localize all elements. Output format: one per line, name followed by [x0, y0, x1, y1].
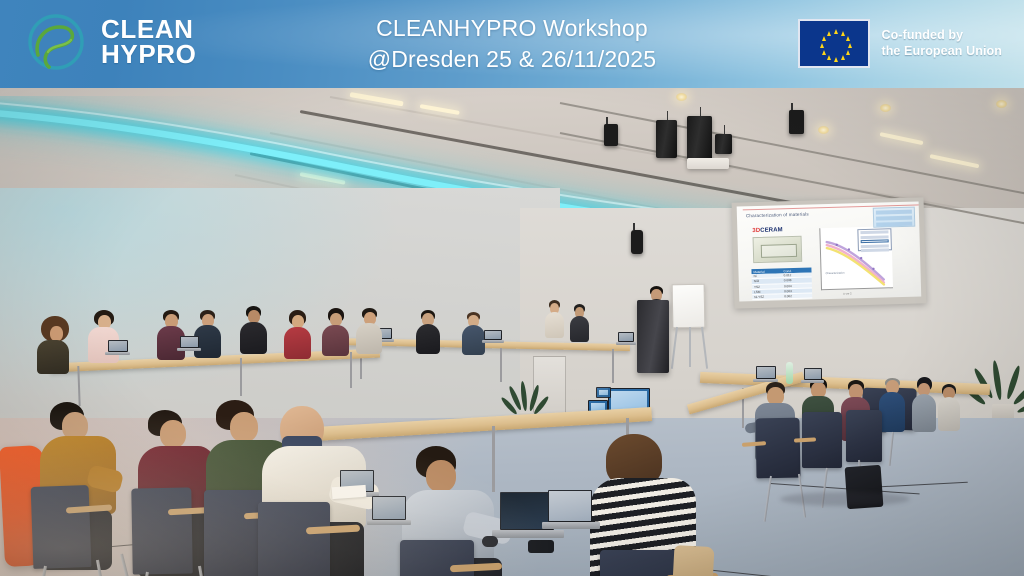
chair [131, 487, 192, 574]
slide-data-table: Material Cond. Ni0.012NiO0.008YSZ0.004LS… [751, 267, 811, 274]
smartphone [528, 540, 554, 553]
wall-light-glow [0, 188, 430, 418]
cell-material: YSZ [752, 284, 782, 289]
eu-star [834, 29, 838, 34]
slide-product-photo [753, 236, 803, 263]
cell-conductivity: 0.004 [782, 283, 812, 288]
tote-bag [670, 545, 715, 576]
ceiling-speaker [656, 120, 677, 158]
brand-suffix: CERAM [760, 227, 783, 234]
stage-light [789, 110, 804, 134]
cell-material: LSM [752, 289, 782, 294]
eu-star [822, 36, 826, 41]
eu-star [846, 50, 850, 55]
flipchart-leg [689, 327, 691, 367]
cell-conductivity: 0.002 [782, 294, 812, 299]
cleanhypro-wordmark: CLEAN HYPRO [101, 17, 196, 67]
wall-monitor [596, 387, 611, 398]
brand-prefix: 3D [752, 228, 760, 234]
projected-slide: Characterization of materials 3DCERAM Ma… [737, 201, 922, 301]
table-body: Ni0.012NiO0.008YSZ0.004LSM0.003Ni-YSZ0.0… [752, 273, 813, 301]
ceiling-speaker [687, 116, 712, 160]
eu-star [827, 31, 831, 36]
chair [600, 550, 678, 576]
eu-funding-badge: Co-funded by the European Union [798, 19, 1002, 68]
cell-material: Ni [752, 274, 782, 279]
stage-light [631, 230, 643, 254]
cell-conductivity: 0.008 [782, 278, 812, 283]
eu-star [846, 36, 850, 41]
eu-text-line-2: the European Union [881, 44, 1002, 59]
slide-chart-legend [857, 228, 892, 251]
chart-xlabel: A·cm-2 [843, 292, 851, 295]
table-row: Ni-YSZ0.002 [752, 293, 812, 300]
slide-title: Characterization of materials [746, 212, 809, 219]
eu-funding-text: Co-funded by the European Union [881, 28, 1002, 59]
projection-screen: Characterization of materials 3DCERAM Ma… [732, 197, 927, 308]
cleanhypro-leaf-circle-icon [22, 8, 90, 76]
cell-conductivity: 0.003 [782, 288, 812, 293]
eu-star [820, 43, 824, 48]
eu-star [834, 57, 838, 62]
3dceram-logo: 3DCERAM [752, 227, 783, 234]
chair [755, 418, 800, 479]
header-banner: CLEAN HYPRO CLEANHYPRO Workshop @Dresden… [0, 0, 1024, 88]
cleanhypro-logo: CLEAN HYPRO [22, 8, 196, 76]
cell-conductivity: 0.012 [782, 273, 812, 278]
flipchart-easel [672, 284, 706, 329]
eu-star [841, 31, 845, 36]
eu-text-line-1: Co-funded by [881, 28, 1002, 43]
eu-star [827, 55, 831, 60]
cell-material: NiO [752, 279, 782, 284]
chair [846, 410, 882, 462]
chair [258, 502, 330, 576]
cell-material: Ni-YSZ [752, 294, 782, 299]
slide-corner-thumbnails [873, 207, 916, 228]
paper-note [332, 485, 367, 499]
lectern [637, 300, 669, 373]
eu-star [822, 50, 826, 55]
chair [31, 485, 92, 569]
conference-room-photo: Characterization of materials 3DCERAM Ma… [0, 88, 1024, 576]
computer-mouse [482, 536, 498, 547]
european-union-flag-icon [798, 19, 870, 68]
ceiling-projector [687, 158, 729, 169]
workshop-photo-page: CLEAN HYPRO CLEANHYPRO Workshop @Dresden… [0, 0, 1024, 576]
eu-star [848, 43, 852, 48]
chart-annotation: Characterization [826, 272, 845, 276]
eu-star [841, 55, 845, 60]
logo-line-2: HYPRO [101, 42, 196, 67]
water-bottle [786, 362, 793, 384]
stage-light [604, 124, 618, 146]
ceiling-speaker [715, 134, 732, 154]
